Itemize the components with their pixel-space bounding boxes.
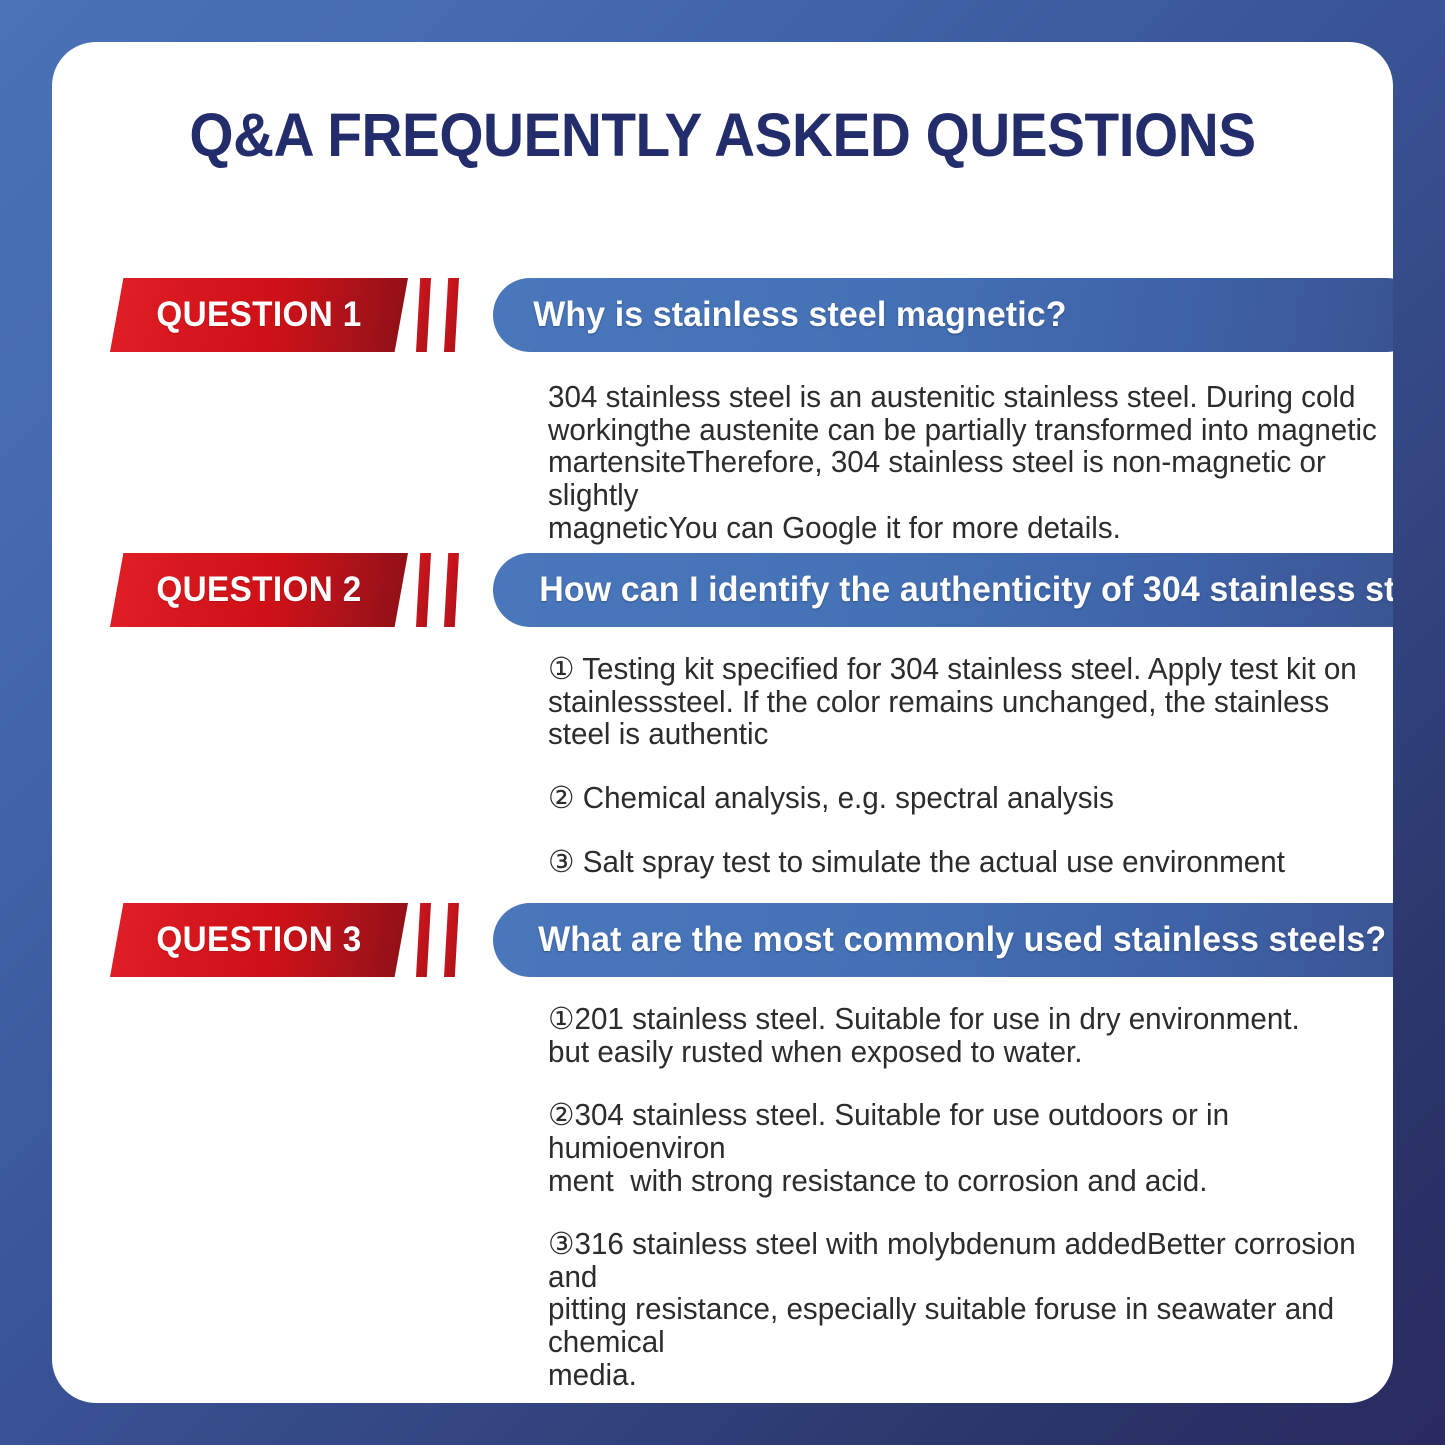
slash-decor-icon xyxy=(444,278,459,352)
faq-header-1: QUESTION 1 Why is stainless steel magnet… xyxy=(52,278,1393,352)
question-text: Why is stainless steel magnetic? xyxy=(533,295,1066,335)
question-tag-label: QUESTION 3 xyxy=(156,920,361,960)
answer-list-1: 304 stainless steel is an austenitic sta… xyxy=(548,381,1393,544)
question-text: What are the most commonly used stainles… xyxy=(538,920,1386,960)
question-tag-label: QUESTION 1 xyxy=(156,295,361,335)
answer-paragraph: ②304 stainless steel. Suitable for use o… xyxy=(548,1099,1393,1197)
faq-block-3: QUESTION 3 What are the most commonly us… xyxy=(52,903,1393,977)
answer-paragraph: ③ Salt spray test to simulate the actual… xyxy=(548,846,1393,879)
question-tag-label: QUESTION 2 xyxy=(156,570,361,610)
answer-paragraph: 304 stainless steel is an austenitic sta… xyxy=(548,381,1393,544)
slash-decor-icon xyxy=(416,278,431,352)
page-title: Q&A FREQUENTLY ASKED QUESTIONS xyxy=(99,100,1346,170)
faq-card: Q&A FREQUENTLY ASKED QUESTIONS QUESTION … xyxy=(52,42,1393,1403)
faq-header-3: QUESTION 3 What are the most commonly us… xyxy=(52,903,1393,977)
question-tag-3[interactable]: QUESTION 3 xyxy=(110,903,408,977)
answer-list-3: ①201 stainless steel. Suitable for use i… xyxy=(548,1003,1393,1403)
answer-paragraph: ① Testing kit specified for 304 stainles… xyxy=(548,653,1393,751)
slash-decor-icon xyxy=(444,553,459,627)
slash-decor-icon xyxy=(416,553,431,627)
answer-paragraph: ①201 stainless steel. Suitable for use i… xyxy=(548,1003,1393,1068)
question-pill-2[interactable]: How can I identify the authenticity of 3… xyxy=(493,553,1393,627)
answer-list-2: ① Testing kit specified for 304 stainles… xyxy=(548,653,1393,878)
question-tag-1[interactable]: QUESTION 1 xyxy=(110,278,408,352)
question-pill-3[interactable]: What are the most commonly used stainles… xyxy=(493,903,1393,977)
faq-block-2: QUESTION 2 How can I identify the authen… xyxy=(52,553,1393,627)
faq-header-2: QUESTION 2 How can I identify the authen… xyxy=(52,553,1393,627)
question-pill-1[interactable]: Why is stainless steel magnetic? xyxy=(493,278,1393,352)
question-text: How can I identify the authenticity of 3… xyxy=(539,570,1393,610)
faq-block-1: QUESTION 1 Why is stainless steel magnet… xyxy=(52,278,1393,352)
slash-decor-icon xyxy=(416,903,431,977)
question-tag-2[interactable]: QUESTION 2 xyxy=(110,553,408,627)
answer-paragraph: ③316 stainless steel with molybdenum add… xyxy=(548,1228,1393,1391)
slash-decor-icon xyxy=(444,903,459,977)
answer-paragraph: ② Chemical analysis, e.g. spectral analy… xyxy=(548,782,1393,815)
